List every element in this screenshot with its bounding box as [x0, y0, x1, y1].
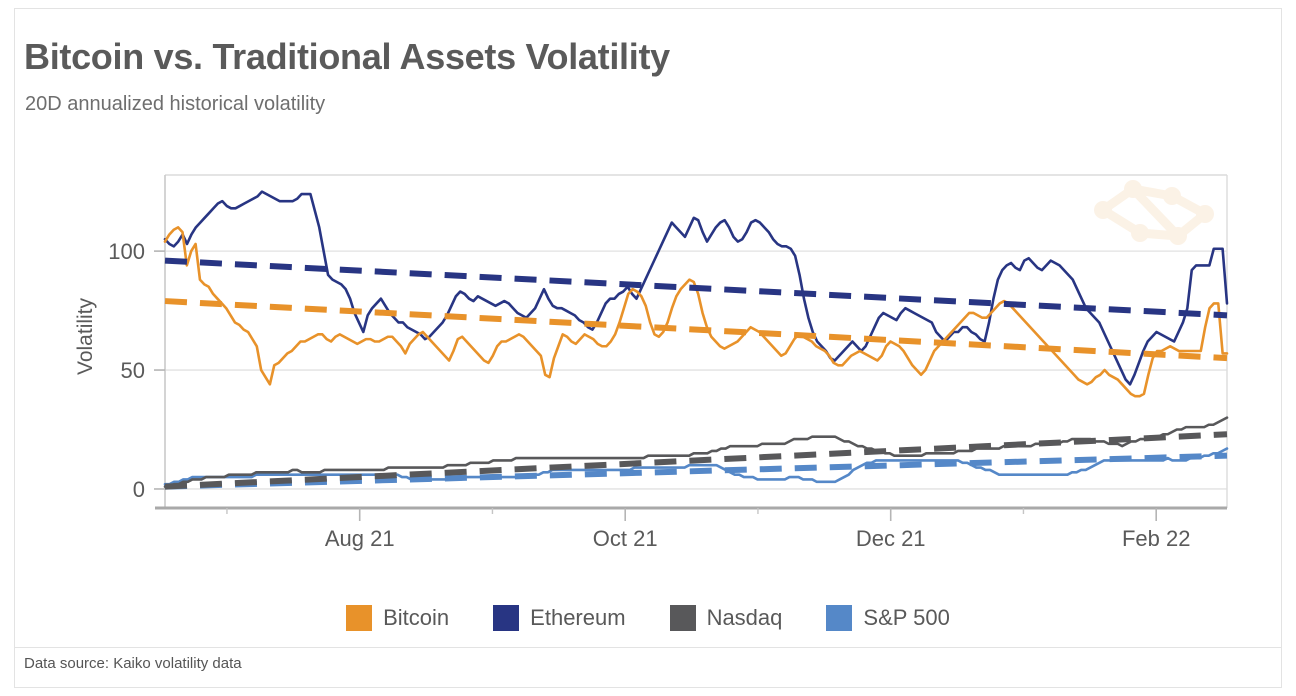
y-tick-label-100: 100 — [108, 239, 145, 264]
kaiko-logo-watermark — [1094, 180, 1214, 245]
chart-legend: BitcoinEthereumNasdaqS&P 500 — [0, 605, 1296, 631]
x-tick-label-Dec 21: Dec 21 — [856, 526, 926, 551]
trendline-bitcoin — [165, 301, 1227, 358]
y-tick-label-50: 50 — [121, 358, 145, 383]
chart-canvas: Bitcoin vs. Traditional Assets Volatilit… — [0, 0, 1296, 696]
watermark-node — [1124, 180, 1142, 198]
legend-swatch-icon — [493, 605, 519, 631]
legend-item-nasdaq[interactable]: Nasdaq — [670, 605, 783, 631]
legend-item-bitcoin[interactable]: Bitcoin — [346, 605, 449, 631]
x-tick-label-Feb 22: Feb 22 — [1122, 526, 1191, 551]
y-axis-title: Volatility — [74, 297, 97, 375]
legend-swatch-icon — [346, 605, 372, 631]
watermark-node — [1163, 187, 1181, 205]
y-tick-label-0: 0 — [133, 477, 145, 502]
x-tick-label-Oct 21: Oct 21 — [593, 526, 658, 551]
legend-label: S&P 500 — [863, 605, 949, 631]
data-source-note: Data source: Kaiko volatility data — [24, 655, 242, 672]
legend-swatch-icon — [670, 605, 696, 631]
x-tick-label-Aug 21: Aug 21 — [325, 526, 395, 551]
watermark-node — [1094, 201, 1112, 219]
watermark-node — [1131, 224, 1149, 242]
watermark-node — [1169, 227, 1187, 245]
legend-label: Ethereum — [530, 605, 625, 631]
legend-label: Nasdaq — [707, 605, 783, 631]
legend-swatch-icon — [826, 605, 852, 631]
watermark-node — [1196, 205, 1214, 223]
legend-label: Bitcoin — [383, 605, 449, 631]
legend-item-ethereum[interactable]: Ethereum — [493, 605, 625, 631]
legend-item-s-p-500[interactable]: S&P 500 — [826, 605, 949, 631]
volatility-line-chart: 050100VolatilityAug 21Oct 21Dec 21Feb 22 — [0, 0, 1296, 696]
